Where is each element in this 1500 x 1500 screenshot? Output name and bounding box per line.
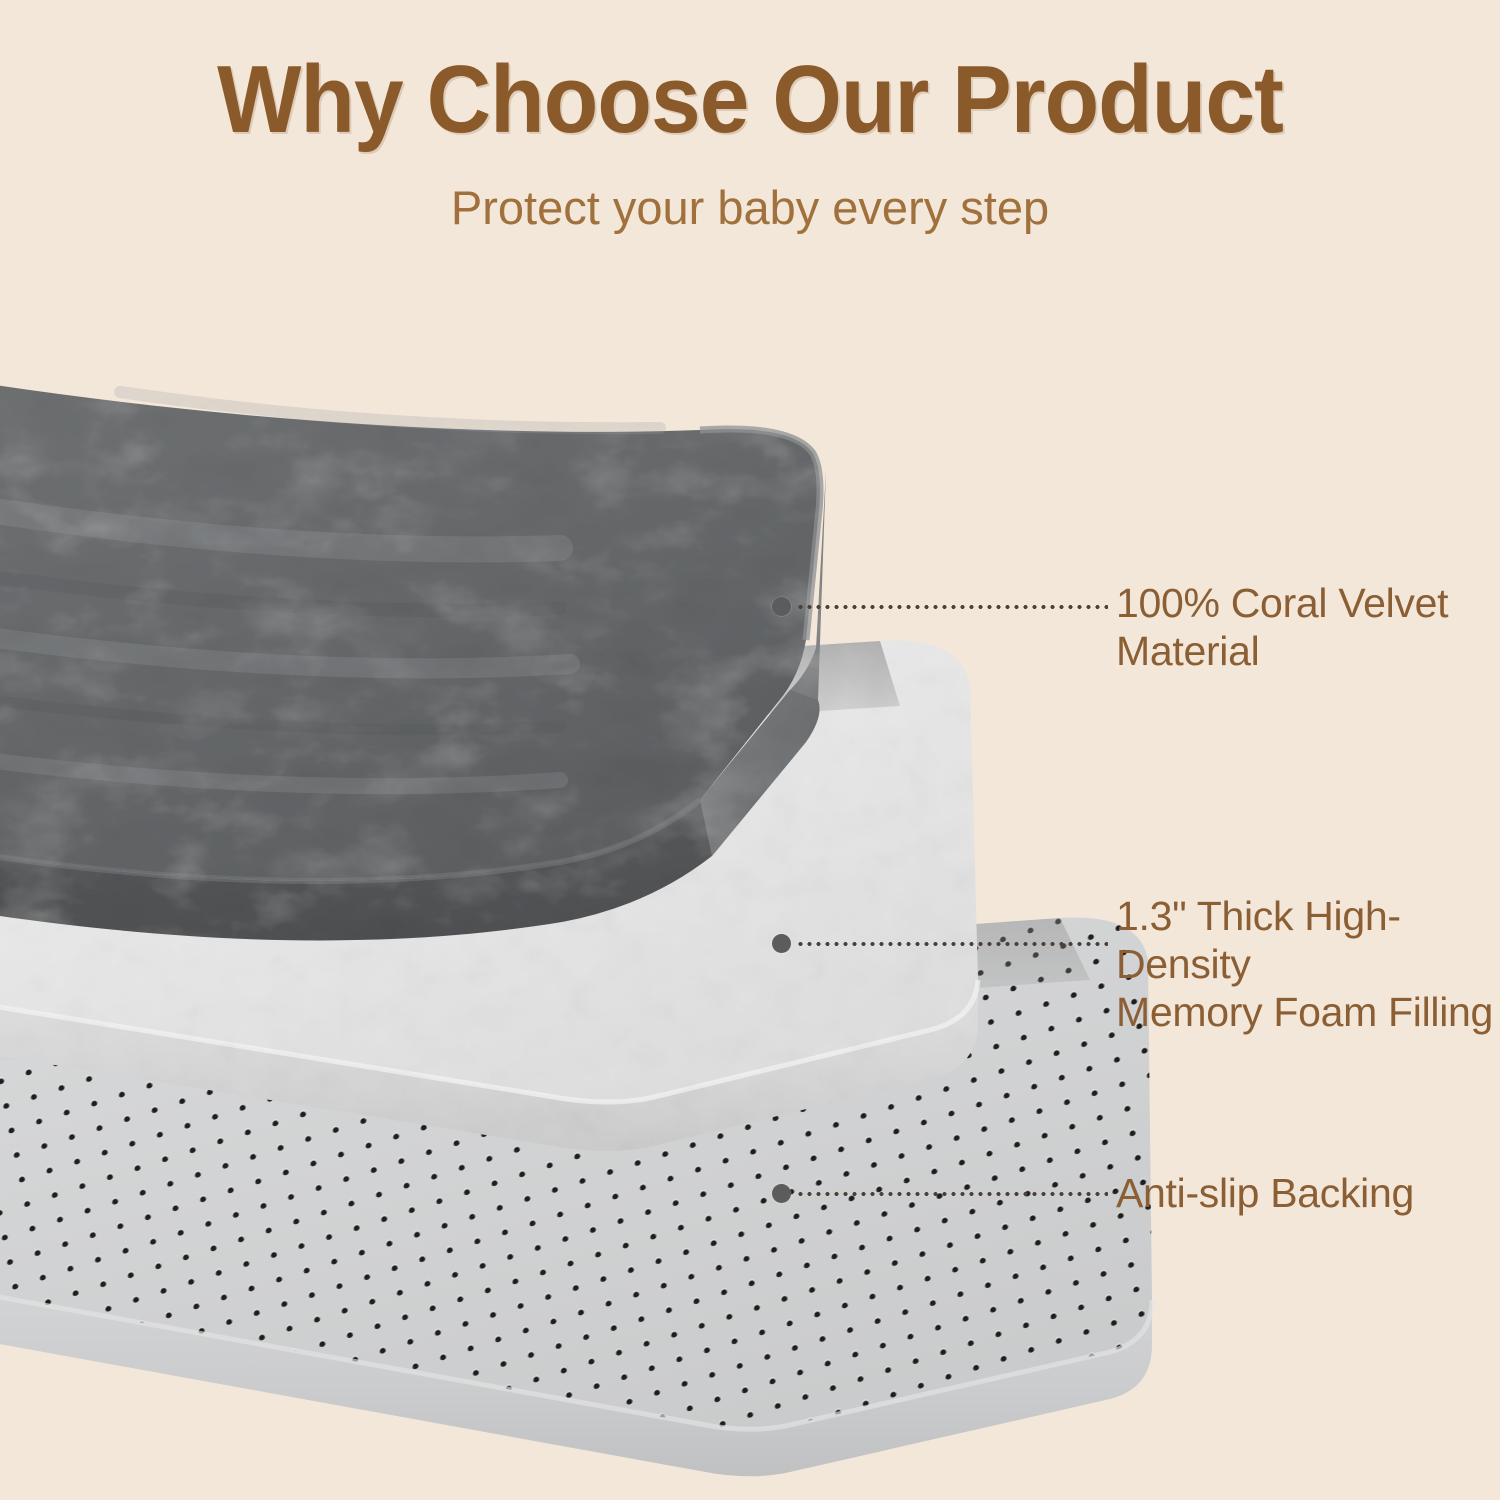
page-title: Why Choose Our Product: [53, 0, 1448, 148]
page-subtitle: Protect your baby every step: [0, 148, 1500, 231]
coral-velvet-layer: [0, 340, 826, 940]
header: Why Choose Our Product Protect your baby…: [0, 0, 1500, 231]
product-infographic: Why Choose Our Product Protect your baby…: [0, 0, 1500, 1500]
